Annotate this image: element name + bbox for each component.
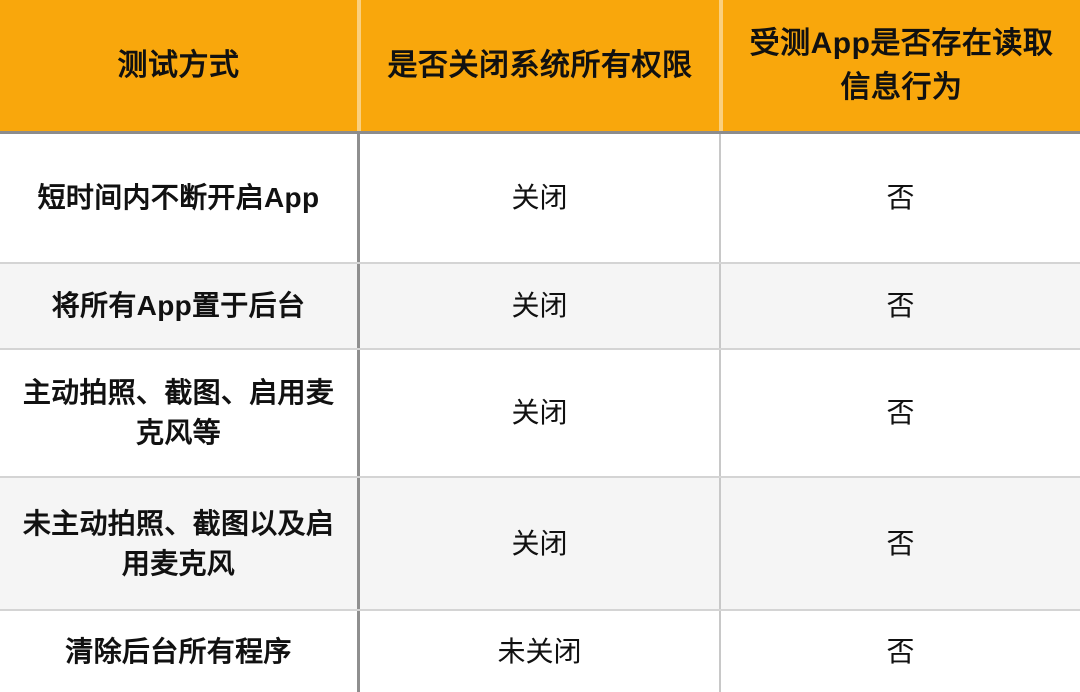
table-row: 短时间内不断开启App 关闭 否 [0, 134, 1080, 264]
column-header-method: 测试方式 [0, 0, 357, 131]
table-row: 清除后台所有程序 未关闭 否 [0, 611, 1080, 692]
column-header-permission: 是否关闭系统所有权限 [357, 0, 719, 131]
cell-permission: 关闭 [357, 264, 719, 348]
table-row: 主动拍照、截图、启用麦克风等 关闭 否 [0, 350, 1080, 478]
cell-behavior: 否 [719, 134, 1080, 262]
column-header-behavior: 受测App是否存在读取信息行为 [719, 0, 1080, 131]
cell-permission: 关闭 [357, 478, 719, 609]
cell-method: 主动拍照、截图、启用麦克风等 [0, 350, 357, 476]
table-row: 将所有App置于后台 关闭 否 [0, 264, 1080, 350]
cell-behavior: 否 [719, 478, 1080, 609]
cell-behavior: 否 [719, 264, 1080, 348]
table-body: 短时间内不断开启App 关闭 否 将所有App置于后台 关闭 否 主动拍照、截图… [0, 134, 1080, 692]
cell-permission: 关闭 [357, 134, 719, 262]
table-header-row: 测试方式 是否关闭系统所有权限 受测App是否存在读取信息行为 [0, 0, 1080, 134]
cell-permission: 关闭 [357, 350, 719, 476]
cell-method: 短时间内不断开启App [0, 134, 357, 262]
cell-permission: 未关闭 [357, 611, 719, 692]
cell-behavior: 否 [719, 350, 1080, 476]
cell-behavior: 否 [719, 611, 1080, 692]
cell-method: 清除后台所有程序 [0, 611, 357, 692]
cell-method: 将所有App置于后台 [0, 264, 357, 348]
cell-method: 未主动拍照、截图以及启用麦克风 [0, 478, 357, 609]
table-row: 未主动拍照、截图以及启用麦克风 关闭 否 [0, 478, 1080, 611]
results-table: 测试方式 是否关闭系统所有权限 受测App是否存在读取信息行为 短时间内不断开启… [0, 0, 1080, 692]
